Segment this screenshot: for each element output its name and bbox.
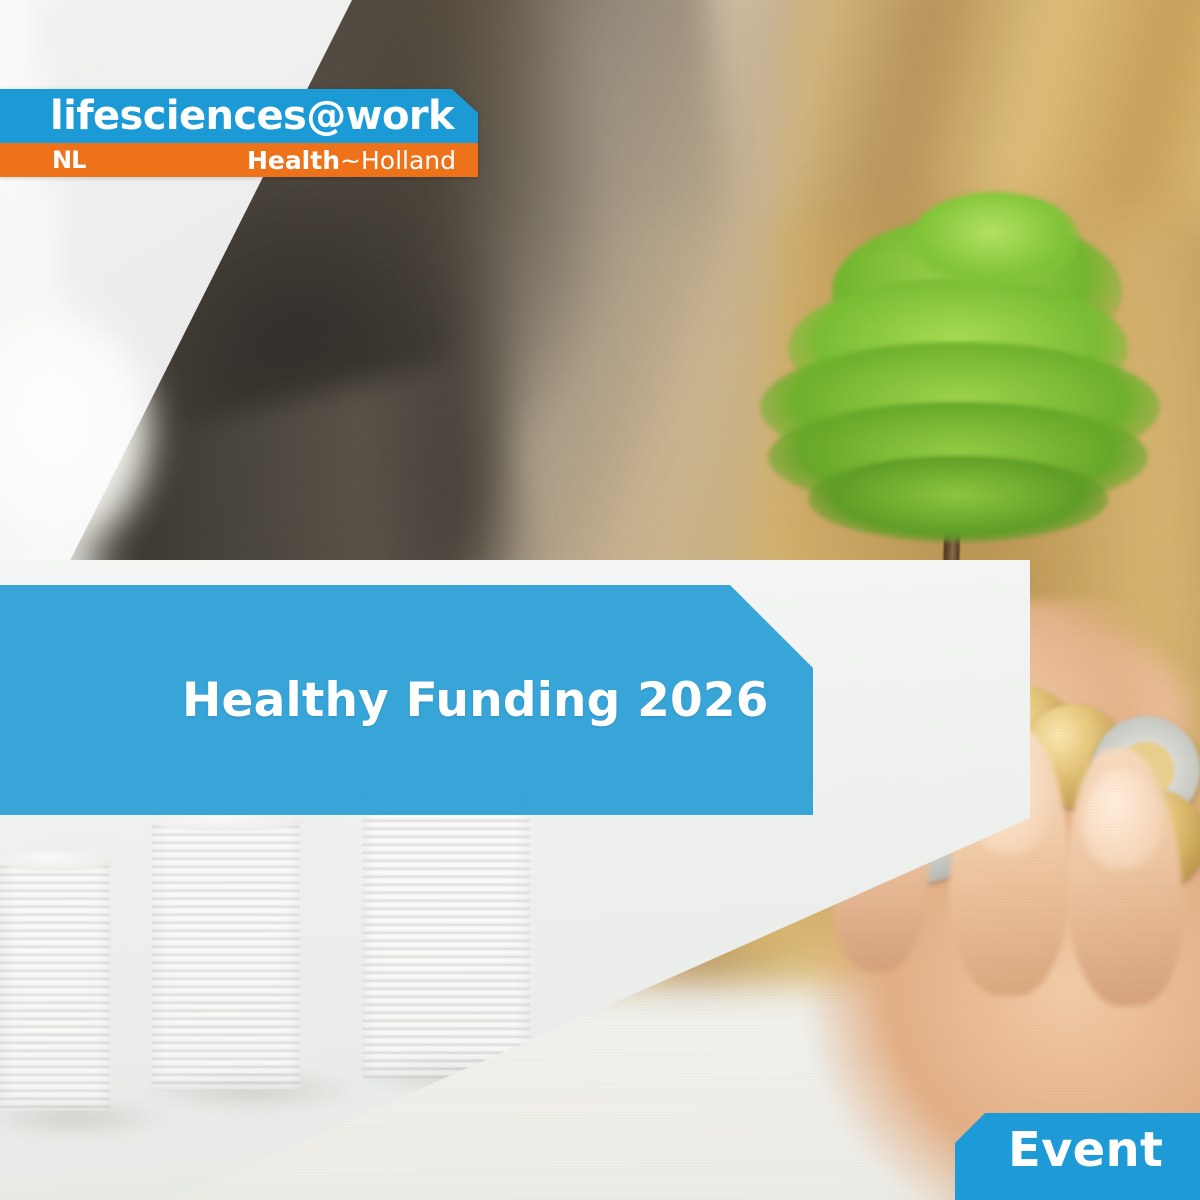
coin-stack-small xyxy=(0,860,110,1110)
coin-stack-large xyxy=(362,790,530,1078)
coin-stack-body xyxy=(0,860,110,1110)
poster-canvas: lifesciences@work NL Health~Holland Heal… xyxy=(0,0,1200,1200)
event-badge-label: Event xyxy=(1008,1126,1163,1174)
logo-wordmark-bar: lifesciences@work xyxy=(0,89,478,143)
logo-partner-light: Holland xyxy=(361,146,456,175)
logo-wordmark-text: lifesciences@work xyxy=(50,96,454,136)
logo-partner-separator: ~ xyxy=(340,146,361,175)
page-title: Healthy Funding 2026 xyxy=(182,676,769,725)
tree-canopy xyxy=(808,456,1108,542)
coin-stack-medium xyxy=(152,820,300,1090)
coin-stack-body xyxy=(362,790,530,1078)
logo-country-code: NL xyxy=(52,148,85,172)
coin-stack-body xyxy=(152,820,300,1090)
brand-logo[interactable]: lifesciences@work NL Health~Holland xyxy=(0,89,478,177)
coin-stack-top-coin xyxy=(0,851,113,871)
logo-partner-lockup: Health~Holland xyxy=(247,148,456,173)
logo-partner-bold: Health xyxy=(247,146,340,175)
tree-canopy xyxy=(910,192,1080,288)
logo-partner-bar: NL Health~Holland xyxy=(0,143,478,177)
